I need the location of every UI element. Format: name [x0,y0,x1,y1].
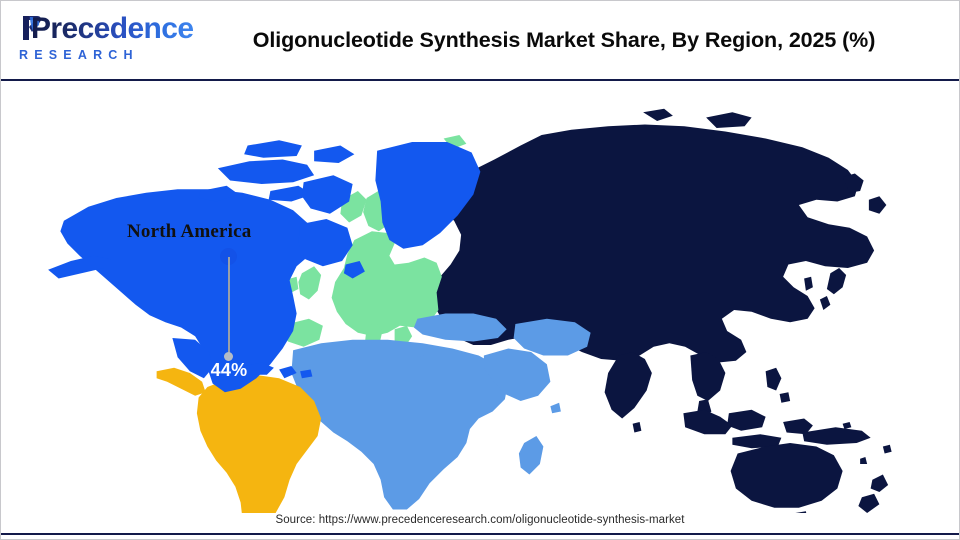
logo-subtext: RESEARCH [19,48,139,62]
map-container: North America 44% [1,81,959,534]
map-region-asia-pacific[interactable] [433,109,892,513]
header-bar: Precedence RESEARCH Oligonucleotide Synt… [1,1,959,80]
callout-leader-line [228,257,230,356]
world-region-map [41,93,925,513]
precedence-research-logo: Precedence RESEARCH [17,12,169,68]
map-region-latin-america[interactable] [157,368,322,513]
callout-region-label: North America [127,221,251,243]
map-region-middle-east-africa[interactable] [291,314,590,510]
source-link[interactable]: Source: https://www.precedenceresearch.c… [276,514,685,526]
callout-value: 44% [206,360,252,381]
footer-divider [1,533,959,535]
logo-wordmark: Precedence [31,12,193,46]
footer-bar: Source: https://www.precedenceresearch.c… [1,506,959,534]
page-title: Oligonucleotide Synthesis Market Share, … [171,1,957,79]
infographic-page: Precedence RESEARCH Oligonucleotide Synt… [0,0,960,540]
